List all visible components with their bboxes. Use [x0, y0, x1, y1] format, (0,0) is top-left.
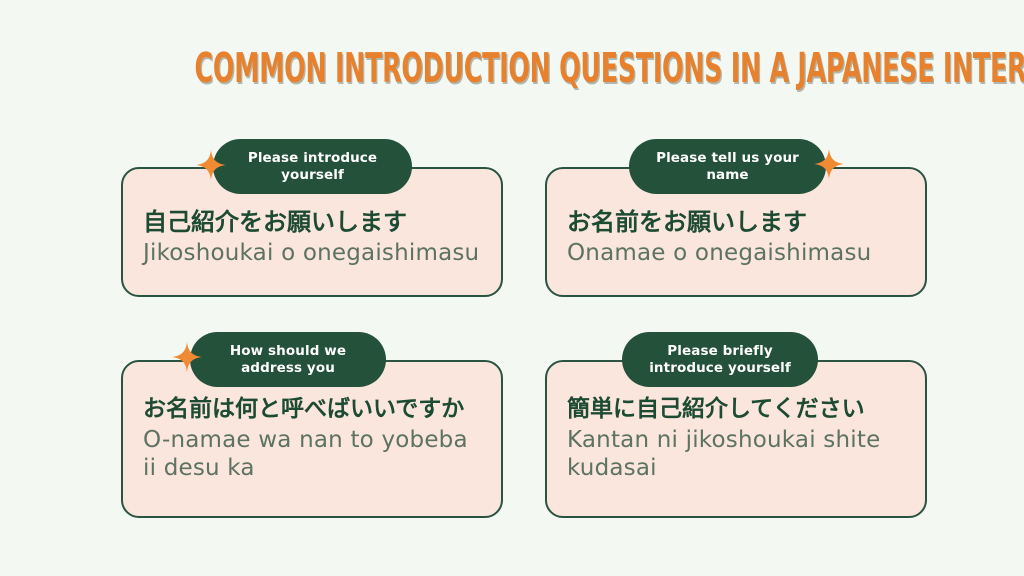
card-4-text-block: 簡単に自己紹介してください Kantan ni jikoshoukai shit… [567, 394, 911, 482]
slide-canvas: COMMON INTRODUCTION QUESTIONS IN A JAPAN… [0, 0, 1024, 576]
card-2-romaji-text: Onamae o onegaishimasu [567, 239, 911, 267]
card-1-japanese-text: 自己紹介をお願いします [143, 207, 487, 237]
card-2-badge-label: Please tell us your name [645, 150, 810, 184]
card-3-romaji-text: O-namae wa nan to yobeba ii desu ka [143, 426, 487, 482]
card-1-text-block: 自己紹介をお願いします Jikoshoukai o onegaishimasu [143, 207, 487, 267]
card-4-badge: Please briefly introduce yourself [622, 332, 818, 387]
card-4-japanese-text: 簡単に自己紹介してください [567, 394, 911, 424]
card-3-japanese-text: お名前は何と呼べばいいですか [143, 394, 487, 424]
card-2-text-block: お名前をお願いします Onamae o onegaishimasu [567, 207, 911, 267]
page-title: COMMON INTRODUCTION QUESTIONS IN A JAPAN… [195, 46, 830, 90]
card-2-japanese-text: お名前をお願いします [567, 207, 911, 237]
card-3-text-block: お名前は何と呼べばいいですか O-namae wa nan to yobeba … [143, 394, 487, 482]
card-1-badge-label: Please introduce yourself [229, 150, 396, 184]
card-4-badge-label: Please briefly introduce yourself [638, 343, 802, 377]
card-1-badge: Please introduce yourself [213, 139, 412, 194]
card-1-romaji-text: Jikoshoukai o onegaishimasu [143, 239, 487, 267]
card-3-badge: How should we address you [190, 332, 386, 387]
card-4-romaji-text: Kantan ni jikoshoukai shite kudasai [567, 426, 911, 482]
card-2-badge: Please tell us your name [629, 139, 826, 194]
card-3-badge-label: How should we address you [206, 343, 370, 377]
